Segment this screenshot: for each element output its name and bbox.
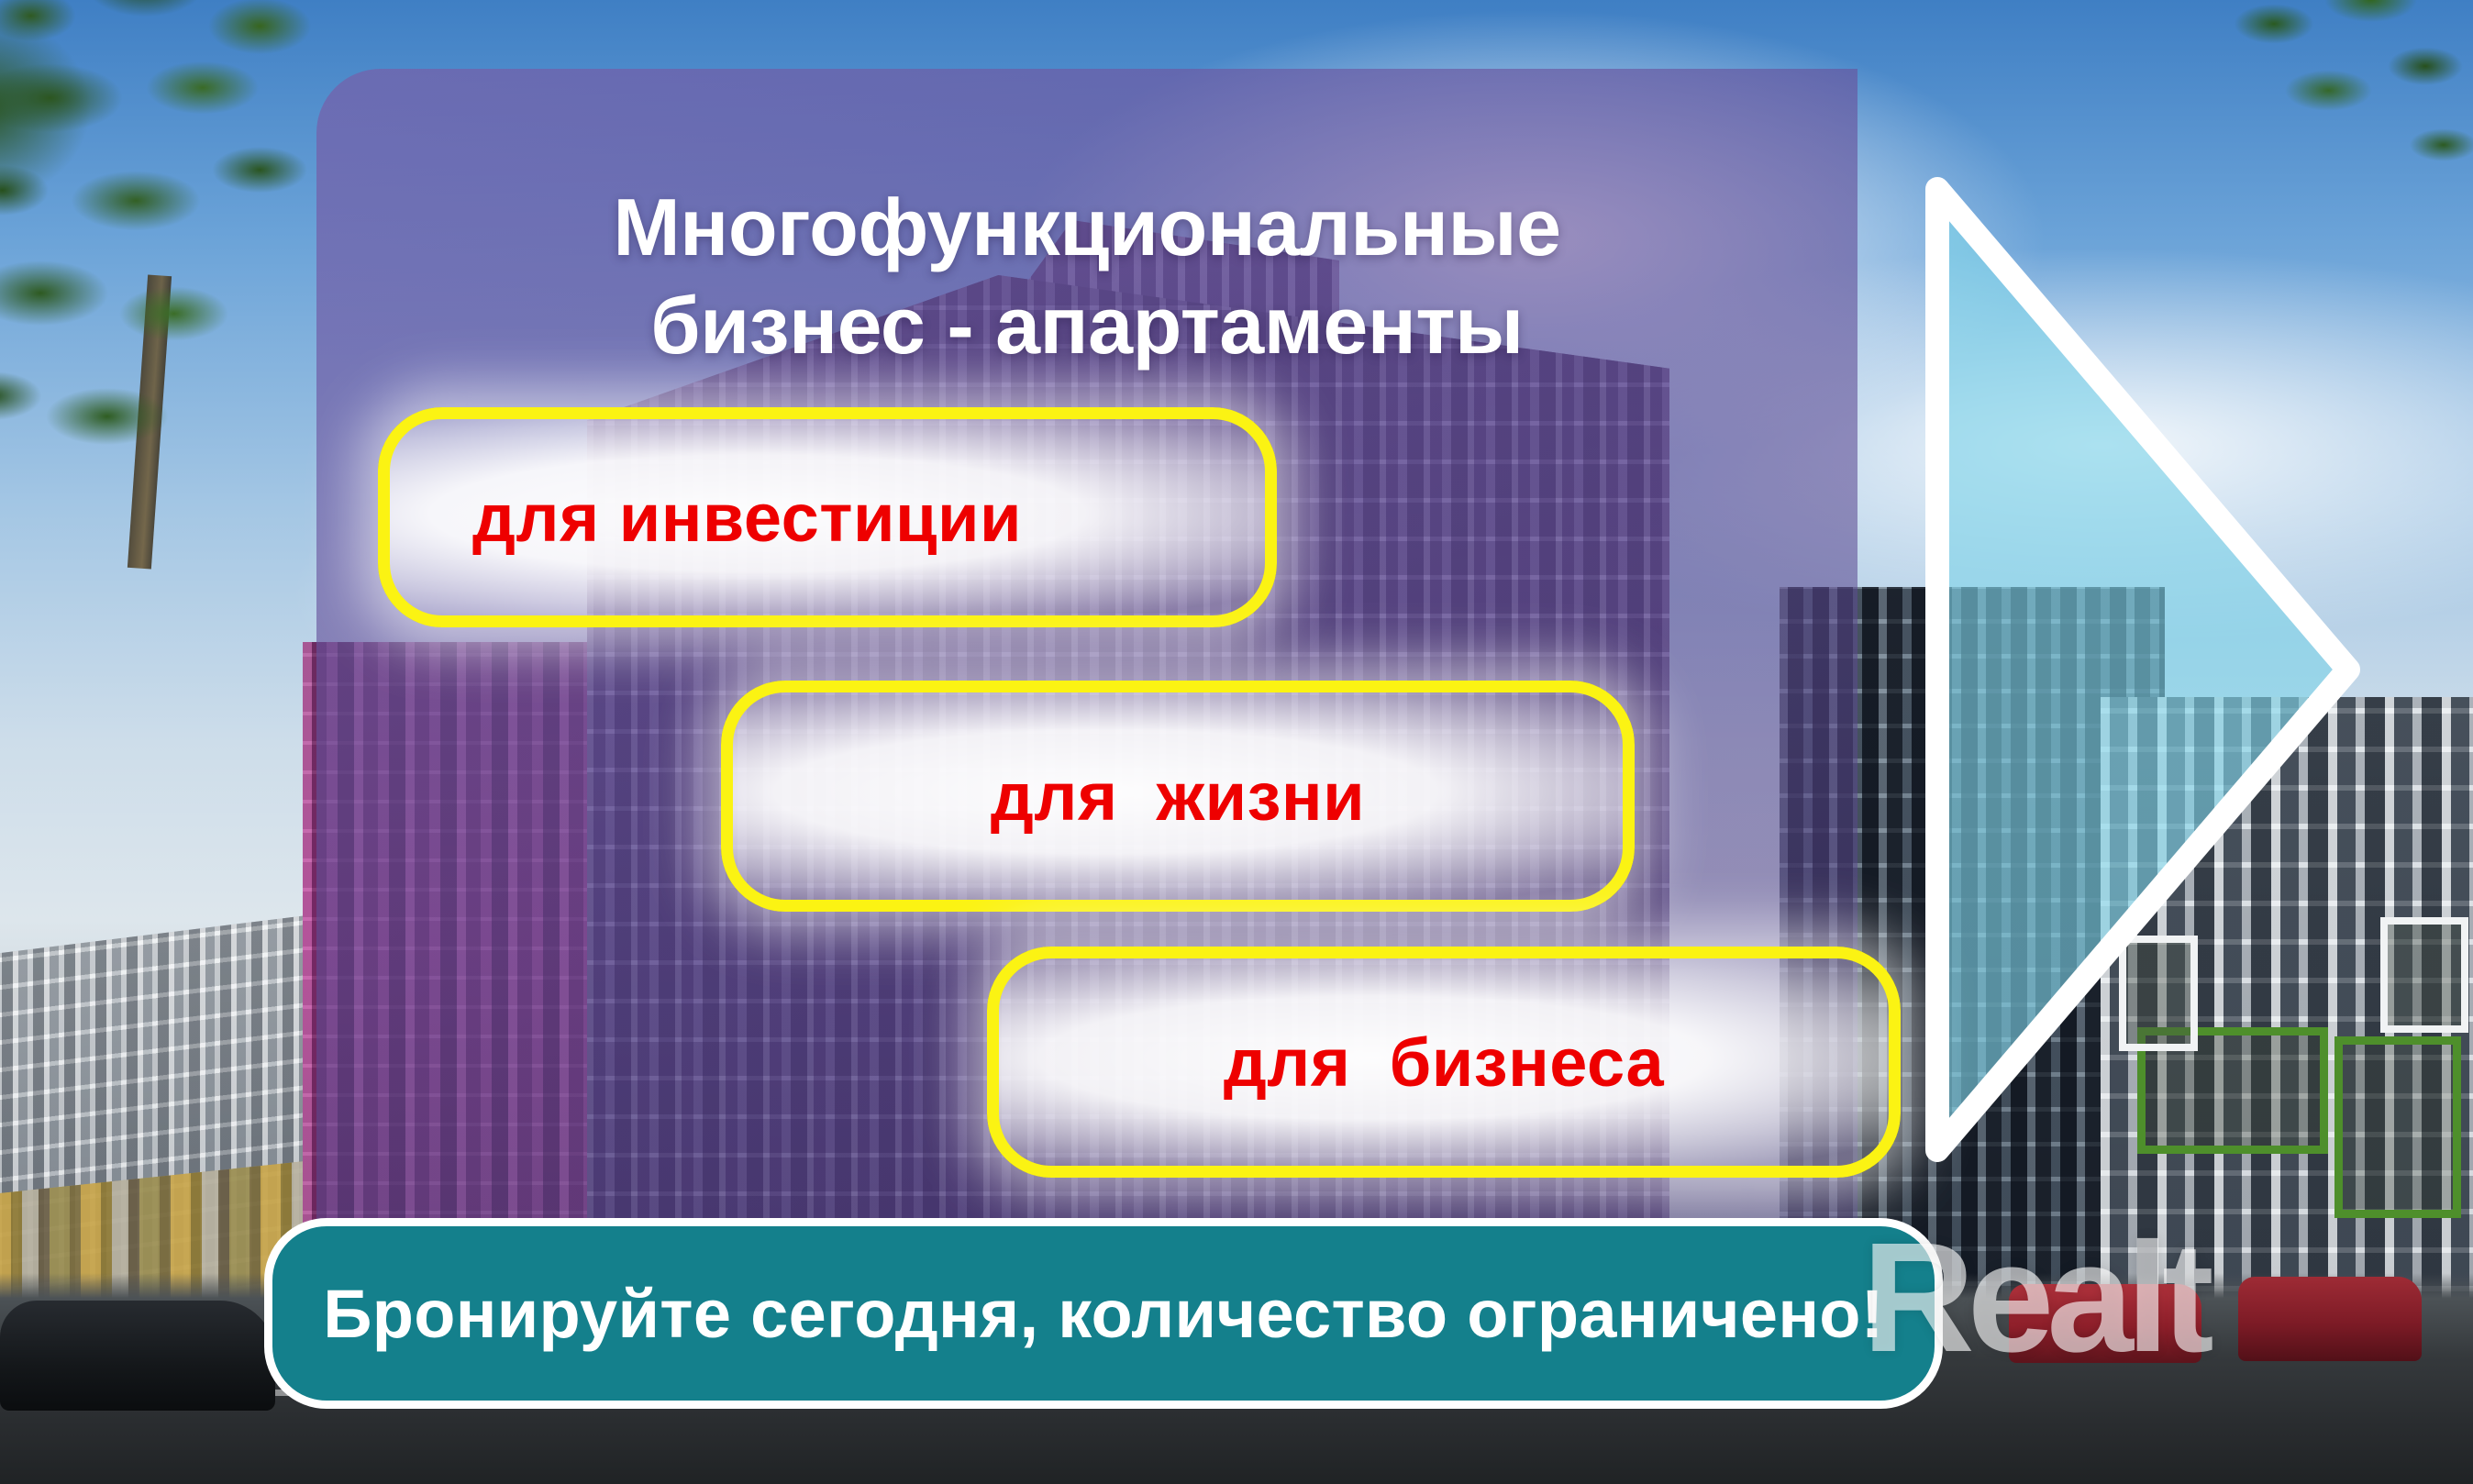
badge-business[interactable]: для бизнеса	[987, 947, 1901, 1178]
car-dark	[0, 1301, 275, 1411]
badge-living-label: для жизни	[991, 758, 1365, 836]
headline-line-2: бизнес - апартаменты	[316, 276, 1858, 374]
cta-banner[interactable]: Бронируйте сегодня, количество ограничен…	[264, 1218, 1943, 1409]
headline-line-1: Многофункциональные	[316, 178, 1858, 276]
badge-business-label: для бизнеса	[1224, 1024, 1664, 1102]
car-red	[2238, 1277, 2422, 1361]
cta-text: Бронируйте сегодня, количество ограничен…	[323, 1275, 1884, 1353]
badge-living[interactable]: для жизни	[721, 681, 1635, 912]
car-red	[2009, 1284, 2201, 1363]
advertisement-banner: Многофункциональные бизнес - апартаменты…	[0, 0, 2473, 1484]
facade-accent-white	[2380, 917, 2468, 1033]
page-title: Многофункциональные бизнес - апартаменты	[316, 178, 1858, 375]
badge-investment[interactable]: для инвестиции	[378, 407, 1277, 627]
play-triangle-icon	[1923, 174, 2363, 1165]
badge-investment-label: для инвестиции	[472, 479, 1022, 557]
